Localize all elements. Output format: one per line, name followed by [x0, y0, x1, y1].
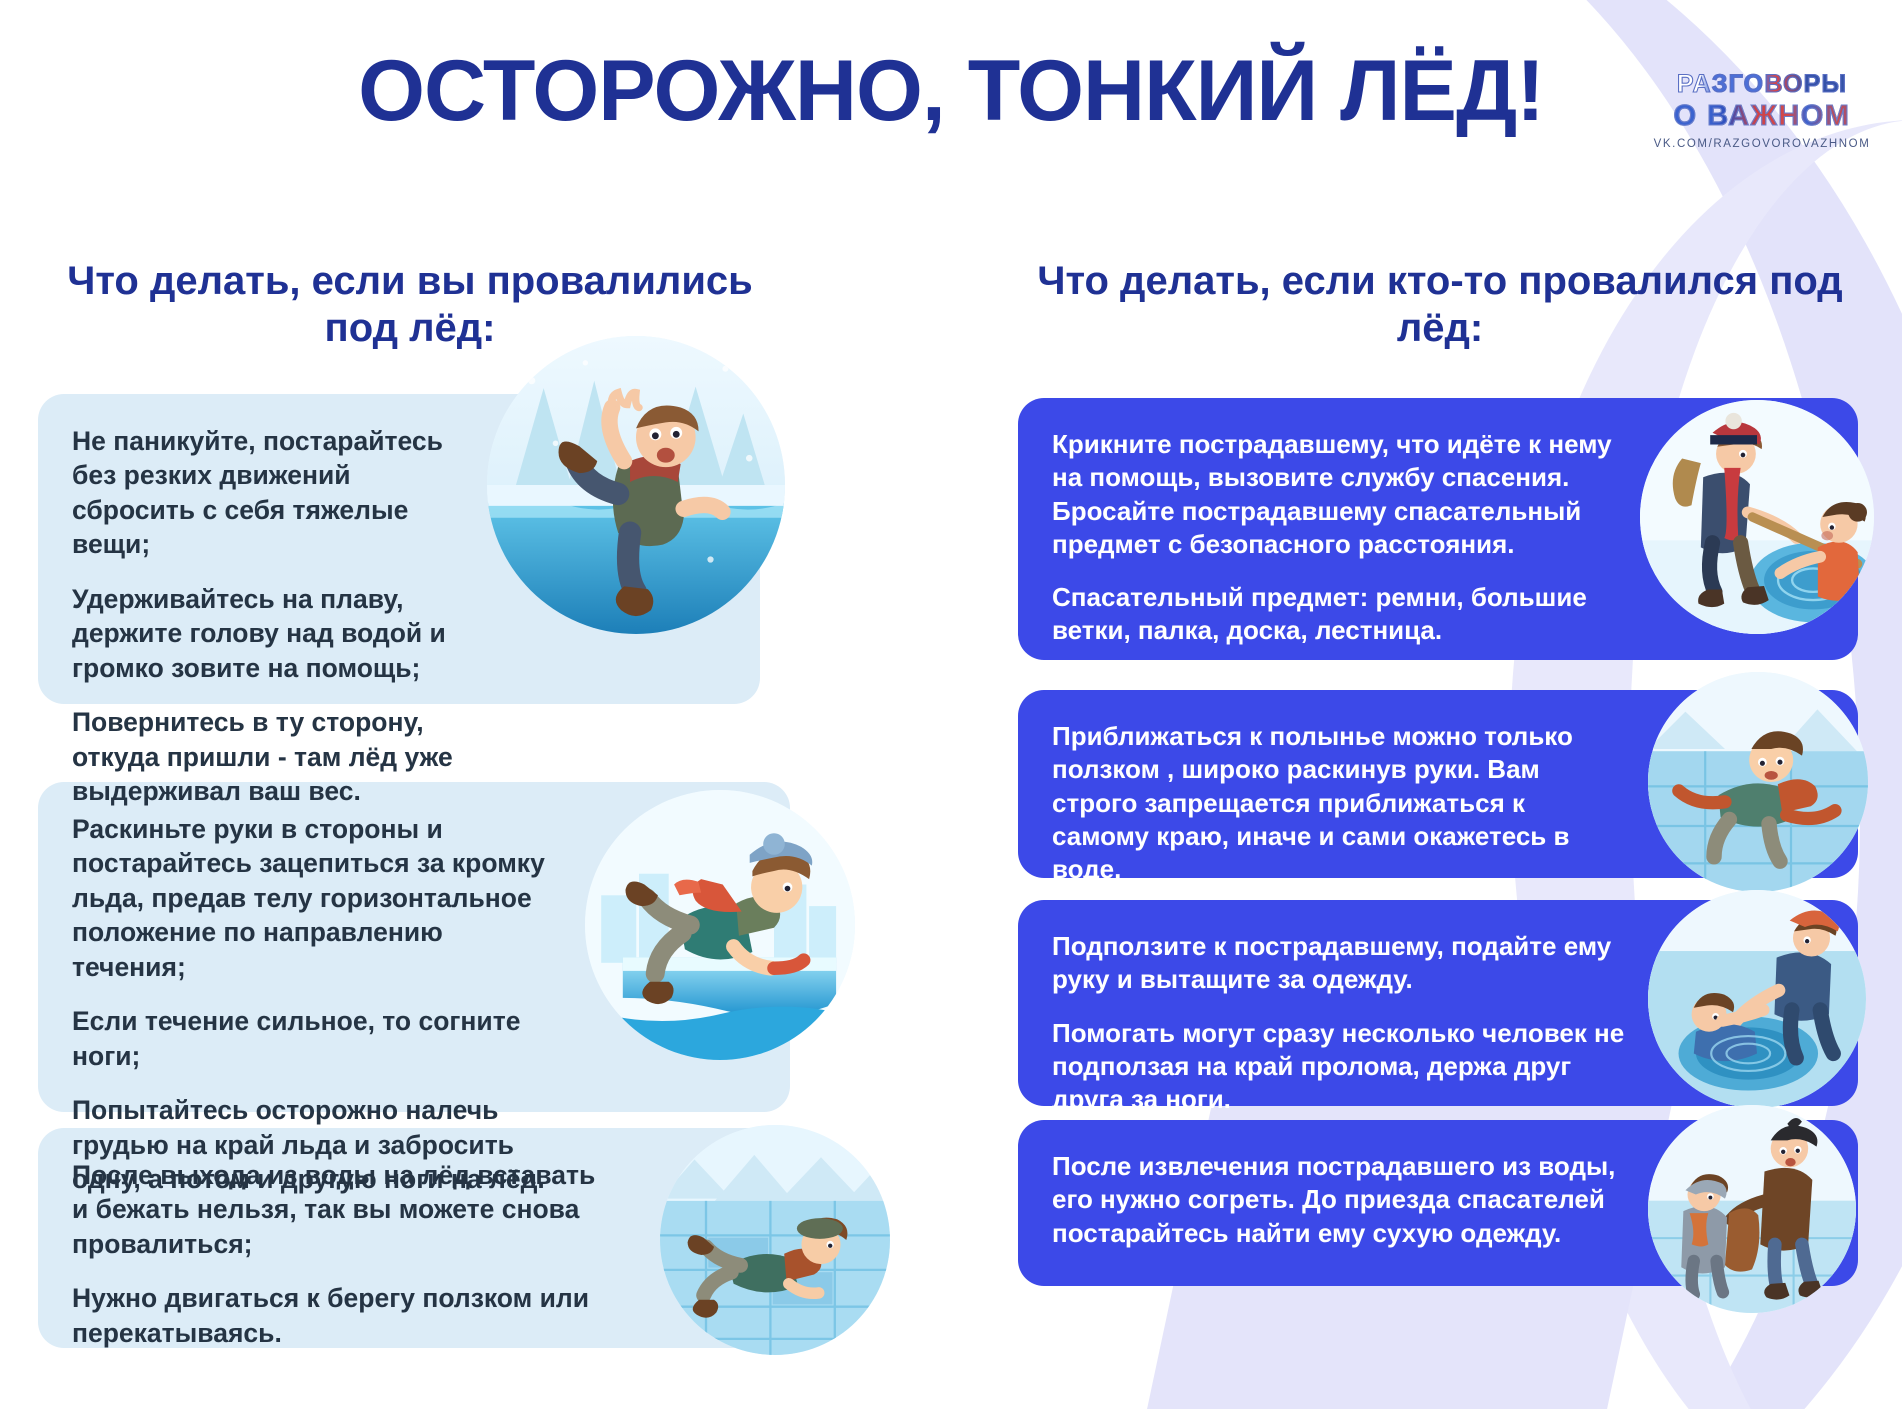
advice-paragraph: Помогать могут сразу несколько человек н… — [1052, 1017, 1628, 1117]
advice-paragraph: Подползите к пострадавшему, подайте ему … — [1052, 930, 1628, 997]
brand-logo-line-1: РАЗГОВОРЫ — [1650, 72, 1874, 100]
advice-paragraph: Раскиньте руки в стороны и постарайтесь … — [72, 812, 560, 984]
page-title: ОСТОРОЖНО, ТОНКИЙ ЛЁД! — [0, 48, 1902, 134]
boy-crawling-on-ice-icon — [660, 1125, 890, 1355]
column-heading-right: Что делать, если кто-то провалился под л… — [1010, 258, 1870, 352]
boy-falling-through-ice-icon — [487, 336, 785, 634]
rescuer-pulling-victim-icon — [1648, 890, 1866, 1108]
poster-canvas: ОСТОРОЖНО, ТОНКИЙ ЛЁД! РАЗГОВОРЫ О ВАЖНО… — [0, 0, 1902, 1409]
advice-paragraph: Нужно двигаться к берегу ползком или пер… — [72, 1281, 610, 1350]
advice-paragraph: После выхода из воды на лёд вставать и б… — [72, 1158, 610, 1261]
rescuer-extending-stick-icon — [1640, 400, 1874, 634]
brand-logo-url: VK.COM/RAZGOVOROVAZHNOM — [1650, 138, 1874, 150]
advice-paragraph: Не паникуйте, постарайтесь без резких дв… — [72, 424, 470, 562]
poster-header: ОСТОРОЖНО, ТОНКИЙ ЛЁД! РАЗГОВОРЫ О ВАЖНО… — [0, 0, 1902, 190]
boy-climbing-onto-ice-edge-icon — [585, 790, 855, 1060]
advice-paragraph: Спасательный предмет: ремни, большие вет… — [1052, 581, 1628, 648]
brand-logo-line-2: О ВАЖНОМ — [1650, 100, 1874, 131]
warming-victim-with-blanket-icon — [1648, 1105, 1856, 1313]
advice-paragraph: После извлечения пострадавшего из воды, … — [1052, 1150, 1628, 1250]
brand-logo: РАЗГОВОРЫ О ВАЖНОМ VK.COM/RAZGOVOROVAZHN… — [1650, 72, 1874, 150]
advice-paragraph: Крикните пострадавшему, что идёте к нему… — [1052, 428, 1628, 561]
advice-paragraph: Приближаться к полынье можно только полз… — [1052, 720, 1628, 886]
advice-paragraph: Если течение сильное, то согните ноги; — [72, 1004, 560, 1073]
advice-paragraph: Удерживайтесь на плаву, держите голову н… — [72, 582, 470, 685]
boy-crawling-arms-spread-icon — [1648, 672, 1868, 892]
